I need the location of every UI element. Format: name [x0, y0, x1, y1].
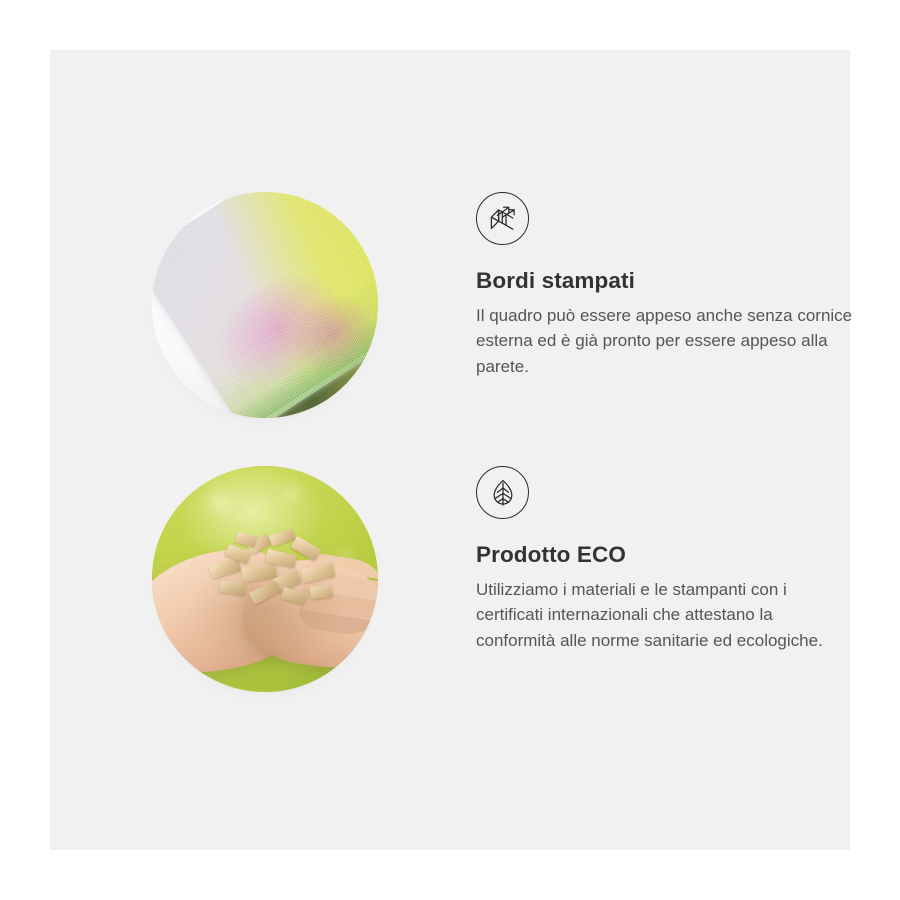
eco-photo-wrapper [152, 466, 378, 692]
printed-edges-text-column: Bordi stampati Il quadro può essere appe… [476, 192, 896, 379]
printed-edges-icon [476, 192, 529, 245]
leaf-glyph [488, 478, 518, 508]
content-panel: Bordi stampati Il quadro può essere appe… [50, 50, 850, 850]
feature-description: Utilizziamo i materiali e le stampanti c… [476, 577, 856, 654]
feature-title: Bordi stampati [476, 269, 896, 294]
canvas-corner-photo-wrapper [152, 192, 378, 418]
feature-description: Il quadro può essere appeso anche senza … [476, 303, 856, 380]
product-feature-page: Bordi stampati Il quadro può essere appe… [0, 0, 900, 900]
leaf-icon [476, 466, 529, 519]
printed-edges-glyph [488, 204, 518, 234]
feature-title: Prodotto ECO [476, 543, 896, 568]
canvas-corner-photo [152, 192, 378, 418]
eco-hands-woodchips-photo [152, 466, 378, 692]
eco-product-text-column: Prodotto ECO Utilizziamo i materiali e l… [476, 466, 896, 653]
photo-shading-overlay [152, 466, 378, 692]
feature-block-printed-edges: Bordi stampati Il quadro può essere appe… [152, 192, 900, 442]
feature-block-eco-product: Prodotto ECO Utilizziamo i materiali e l… [152, 466, 900, 716]
